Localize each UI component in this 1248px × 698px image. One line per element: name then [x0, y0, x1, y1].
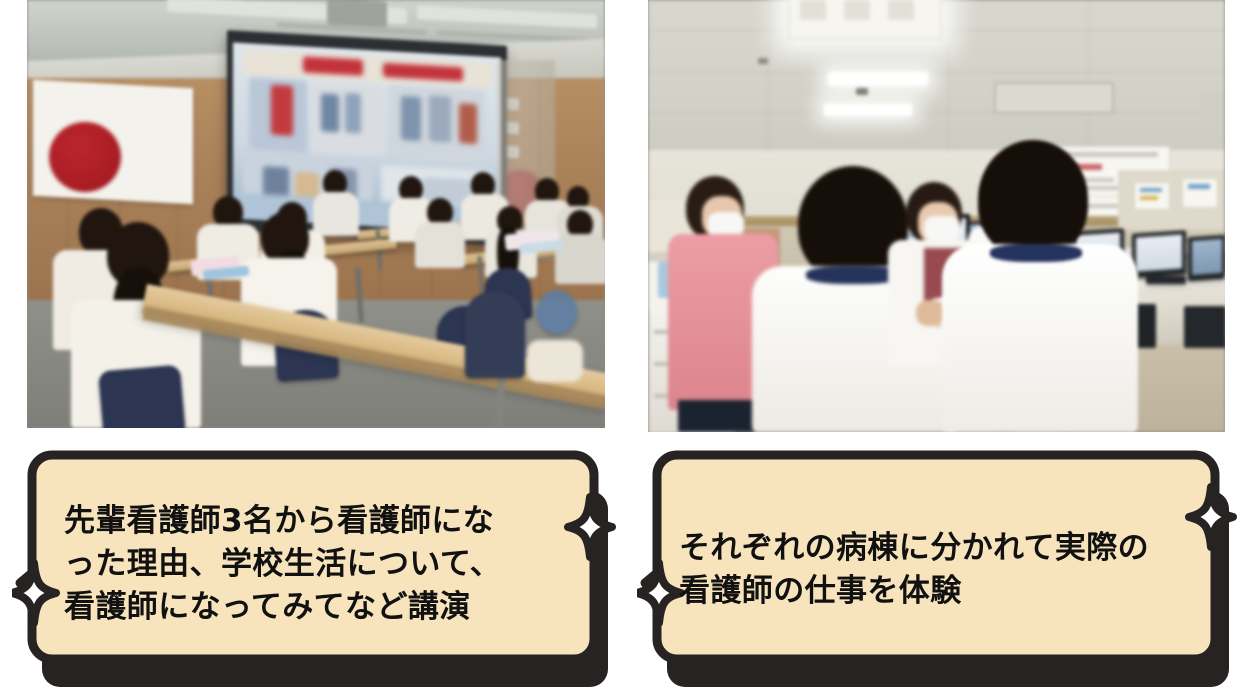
ceiling-sprinkler — [856, 88, 868, 95]
ceiling-sprinkler — [758, 58, 768, 64]
caption-text-right: それぞれの病棟に分かれて実際の 看護師の仕事を体験 — [679, 527, 1179, 613]
caption-bubble-right: それぞれの病棟に分かれて実際の 看護師の仕事を体験 — [637, 443, 1241, 691]
trousers — [678, 400, 754, 432]
ceiling-vent — [994, 82, 1114, 114]
chair-back — [537, 290, 577, 334]
ceiling-light — [828, 72, 928, 86]
caption-bubble-left: 先輩看護師3名から看護師にな った理由、学校生活について、 看護師になってみてな… — [12, 443, 620, 691]
navy-collar — [990, 244, 1082, 262]
ceiling-edge — [1200, 92, 1225, 126]
ceiling-light-cell — [844, 0, 870, 20]
hair — [978, 140, 1088, 258]
bag-on-chair — [527, 340, 583, 382]
student-foreground-right-figure — [948, 140, 1148, 432]
hospital-nurse-station-photo — [648, 0, 1225, 432]
chair — [98, 365, 186, 428]
keyboard — [1146, 276, 1186, 284]
under-counter-pc — [1184, 306, 1225, 348]
lecture-hall-photo — [27, 0, 605, 428]
wall-note — [1182, 178, 1218, 208]
ceiling-light-cell — [888, 0, 914, 20]
computer-monitor — [1188, 235, 1225, 282]
collage-stage: 先輩看護師3名から看護師にな った理由、学校生活について、 看護師になってみてな… — [0, 0, 1248, 698]
caption-text-left: 先輩看護師3名から看護師にな った理由、学校生活について、 看護師になってみてな… — [64, 500, 564, 629]
ceiling-light — [824, 104, 912, 116]
chair — [465, 292, 525, 378]
lecture-hall-scene — [27, 0, 605, 428]
ceiling-light-cell — [800, 0, 826, 20]
ceiling-projector — [327, 0, 387, 28]
white-tshirt — [942, 244, 1138, 432]
japanese-flag-disc — [49, 122, 121, 192]
